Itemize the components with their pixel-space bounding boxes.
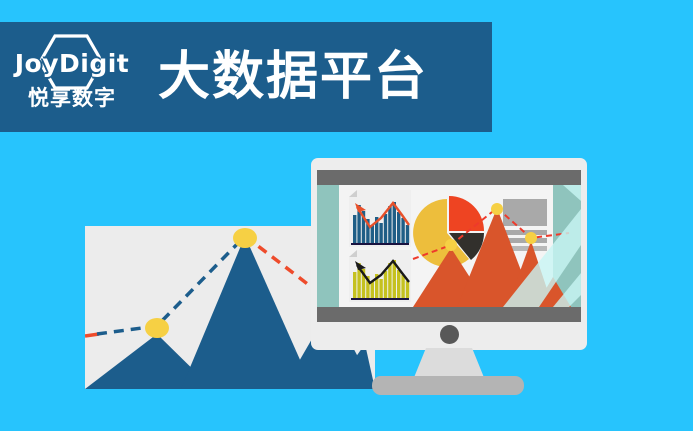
bar: [401, 218, 404, 243]
yellow-bar-chart: [349, 250, 411, 302]
dashboard-graphics: [317, 185, 581, 307]
bar: [384, 271, 387, 298]
screen-side-strip-left: [317, 185, 339, 307]
monitor-bezel-top: [317, 170, 581, 185]
logo-wordmark: JoyDigit: [15, 51, 130, 76]
bar: [353, 215, 356, 243]
bar: [353, 272, 356, 298]
axis-line: [351, 298, 409, 300]
axis-line: [351, 243, 409, 245]
bar: [388, 206, 391, 243]
data-point-marker: [233, 228, 257, 248]
bar: [384, 214, 387, 243]
logo-subtitle: 悦享数字: [28, 88, 116, 109]
page-title: 大数据平台: [158, 51, 428, 103]
bar: [406, 225, 409, 243]
monitor-bezel-bottom: [317, 307, 581, 322]
data-point-marker: [525, 232, 537, 244]
bar: [388, 263, 391, 298]
monitor-screen: [317, 185, 581, 307]
poster-canvas: JoyDigit 悦享数字 大数据平台: [0, 0, 693, 431]
desktop-monitor: [311, 158, 587, 350]
mountain-shape-main: [181, 236, 313, 389]
power-indicator-dot[interactable]: [440, 325, 459, 344]
monitor-stand-base: [372, 376, 524, 395]
data-point-marker: [491, 203, 503, 215]
dashed-trend-segment-red: [85, 334, 99, 336]
data-point-marker: [145, 318, 169, 338]
placeholder-heading-block: [503, 199, 547, 226]
bar: [406, 281, 409, 298]
data-point-marker: [445, 239, 457, 251]
placeholder-line: [503, 230, 547, 235]
header-banner: JoyDigit 悦享数字 大数据平台: [0, 22, 492, 132]
bar: [379, 279, 382, 298]
bar: [397, 270, 400, 298]
blue-bar-chart: [349, 190, 411, 247]
bar: [401, 275, 404, 298]
bar: [379, 223, 382, 243]
bar: [371, 225, 374, 243]
brand-logo: JoyDigit 悦享数字: [12, 31, 132, 123]
bar: [397, 212, 400, 243]
